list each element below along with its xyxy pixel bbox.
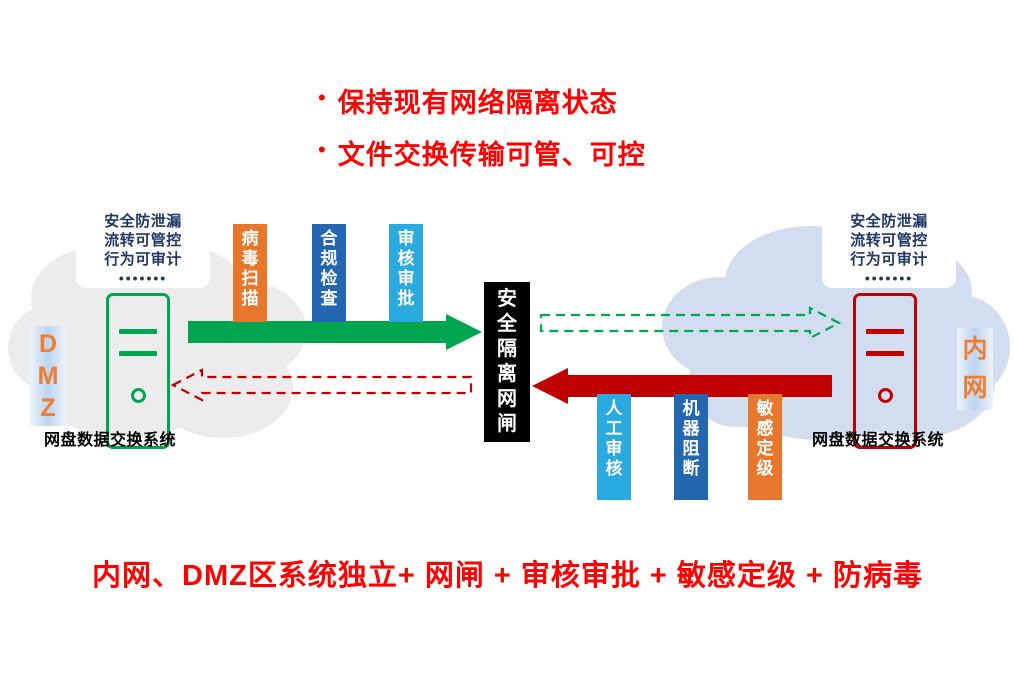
gateway-char: 闸: [497, 412, 517, 437]
tag-char: 机: [683, 399, 700, 419]
intranet-callout-line-3: 行为可审计: [830, 250, 948, 269]
tag-char: 检: [321, 269, 338, 289]
intranet-callout-line-1: 安全防泄漏: [830, 212, 948, 231]
tag-char: 规: [321, 249, 338, 269]
gateway-char: 全: [497, 312, 517, 337]
tag-char: 器: [683, 419, 700, 439]
tag-char: 审: [606, 439, 623, 459]
server-power-icon: [131, 388, 146, 403]
zone-char-nei: 内: [962, 330, 987, 369]
zone-char-wang: 网: [962, 369, 987, 408]
tag-char: 核: [606, 459, 623, 479]
intranet-callout-line-2: 流转可管控: [830, 231, 948, 250]
tag-char: 扫: [242, 269, 259, 289]
security-gateway-box: 安 全 隔 离 网 闸: [484, 282, 530, 442]
intranet-callout-dots: •••••••: [830, 270, 948, 286]
dmz-callout-dots: •••••••: [84, 270, 202, 286]
dmz-callout-line-2: 流转可管控: [84, 231, 202, 250]
server-slot-bar: [119, 329, 157, 334]
gateway-char: 离: [497, 362, 517, 387]
bullet-text-2: 文件交换传输可管、可控: [338, 133, 646, 172]
bullet-item-2: • 文件交换传输可管、可控: [318, 126, 798, 178]
gateway-char: 隔: [497, 337, 517, 362]
tag-compliance-check: 合 规 检 查: [312, 224, 346, 322]
intranet-callout-box: 安全防泄漏 流转可管控 行为可审计 •••••••: [822, 206, 956, 288]
tag-char: 毒: [242, 249, 259, 269]
tag-char: 描: [242, 289, 259, 309]
tag-char: 敏: [757, 399, 774, 419]
summary-text: 内网、DMZ区系统独立+ 网闸 + 审核审批 + 敏感定级 + 防病毒: [0, 552, 1015, 594]
server-power-icon: [878, 388, 893, 403]
tag-char: 病: [242, 229, 259, 249]
tag-char: 核: [398, 249, 415, 269]
tag-char: 批: [398, 289, 415, 309]
tag-char: 人: [606, 399, 623, 419]
dmz-callout-line-1: 安全防泄漏: [84, 212, 202, 231]
dmz-system-caption: 网盘数据交换系统: [44, 426, 176, 450]
tag-char: 感: [757, 419, 774, 439]
tag-machine-block: 机 器 阻 断: [674, 394, 708, 500]
inbound-dashed-arrow-left: [172, 368, 472, 402]
dmz-callout-box: 安全防泄漏 流转可管控 行为可审计 •••••••: [76, 206, 210, 288]
tag-manual-review: 人 工 审 核: [597, 394, 631, 500]
diagram-canvas: • 保持现有网络隔离状态 • 文件交换传输可管、可控: [0, 0, 1015, 675]
server-slot-bar: [866, 351, 904, 356]
tag-char: 级: [757, 459, 774, 479]
tag-char: 断: [683, 459, 700, 479]
tag-char: 工: [606, 419, 623, 439]
zone-letter-z: Z: [40, 392, 55, 424]
outbound-dashed-arrow-right: [540, 306, 840, 340]
bullet-dot-icon: •: [318, 139, 326, 161]
tag-char: 定: [757, 439, 774, 459]
zone-label-dmz: D M Z: [30, 326, 66, 426]
tag-char: 阻: [683, 439, 700, 459]
tag-char: 合: [321, 229, 338, 249]
dmz-callout-line-3: 行为可审计: [84, 250, 202, 269]
server-slot-bar: [866, 329, 904, 334]
tag-review-approval: 审 核 审 批: [389, 224, 423, 322]
bullet-text-1: 保持现有网络隔离状态: [338, 81, 618, 120]
zone-letter-d: D: [39, 328, 57, 360]
tag-sensitivity-grading: 敏 感 定 级: [748, 394, 782, 500]
gateway-char: 网: [497, 387, 517, 412]
tag-char: 审: [398, 269, 415, 289]
bullet-item-1: • 保持现有网络隔离状态: [318, 74, 798, 126]
zone-label-intranet: 内 网: [957, 328, 993, 410]
intranet-system-caption: 网盘数据交换系统: [812, 426, 944, 450]
tag-virus-scan: 病 毒 扫 描: [233, 224, 267, 322]
server-slot-bar: [119, 351, 157, 356]
bullet-dot-icon: •: [318, 87, 326, 109]
zone-letter-m: M: [38, 360, 59, 392]
bullet-list: • 保持现有网络隔离状态 • 文件交换传输可管、可控: [318, 74, 798, 178]
tag-char: 查: [321, 289, 338, 309]
gateway-char: 安: [497, 287, 517, 312]
tag-char: 审: [398, 229, 415, 249]
